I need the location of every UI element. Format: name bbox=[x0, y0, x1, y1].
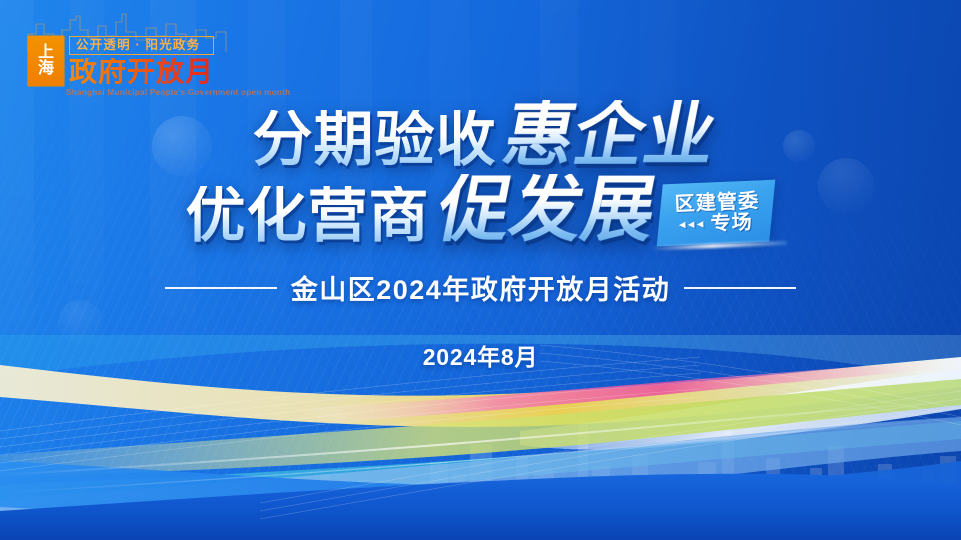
badge-line-1: 区建管委 bbox=[674, 191, 759, 214]
event-date: 2024年8月 bbox=[0, 338, 961, 372]
subtitle-rule-right bbox=[684, 287, 796, 289]
headline-line1-upright: 分期验收 bbox=[253, 110, 497, 170]
stamp-char-bottom: 海 bbox=[38, 61, 54, 77]
badge-line-2: 专场 bbox=[710, 212, 753, 234]
subtitle-text: 金山区2024年政府开放月活动 bbox=[291, 268, 671, 307]
headline-block: 分期验收 惠企业 优化营商 促发展 区建管委 ◄◄◄ 专场 bbox=[0, 100, 961, 246]
government-open-month-logo: 上 海 公开透明 · 阳光政务 政府开放月 Shanghai Municipal… bbox=[26, 12, 232, 98]
badge-line-2-row: ◄◄◄ 专场 bbox=[676, 212, 753, 235]
shanghai-stamp-icon: 上 海 bbox=[28, 36, 64, 86]
logo-slogan: 公开透明 · 阳光政务 bbox=[69, 36, 214, 55]
headline-line1-italic: 惠企业 bbox=[498, 100, 722, 170]
session-badge: 区建管委 ◄◄◄ 专场 bbox=[656, 180, 775, 247]
headline-line2-italic: 促发展 bbox=[432, 174, 662, 246]
background-city-skyline-icon bbox=[0, 370, 961, 540]
stamp-char-top: 上 bbox=[38, 45, 54, 61]
logo-title: 政府开放月 bbox=[69, 58, 214, 86]
subtitle-row: 金山区2024年政府开放月活动 bbox=[0, 268, 961, 307]
headline-line-2: 优化营商 促发展 区建管委 ◄◄◄ 专场 bbox=[0, 174, 961, 246]
triple-left-arrow-icon: ◄◄◄ bbox=[676, 218, 703, 230]
logo-text-group: 公开透明 · 阳光政务 政府开放月 bbox=[69, 36, 214, 86]
logo-english-subtitle: Shanghai Municipal People's Government o… bbox=[66, 88, 290, 97]
poster-canvas: 上 海 公开透明 · 阳光政务 政府开放月 Shanghai Municipal… bbox=[0, 0, 961, 540]
headline-line2-upright: 优化营商 bbox=[185, 186, 429, 246]
headline-line-1: 分期验收 惠企业 bbox=[6, 100, 961, 170]
logo-mark: 上 海 公开透明 · 阳光政务 政府开放月 bbox=[28, 36, 214, 86]
subtitle-rule-left bbox=[165, 287, 277, 289]
